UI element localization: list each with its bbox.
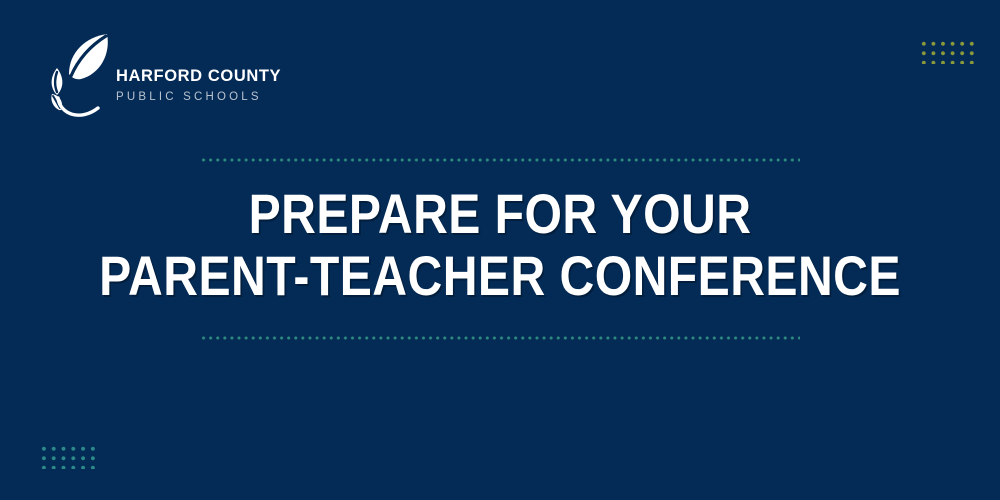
dotted-divider-top xyxy=(200,158,800,162)
dotted-divider-bottom xyxy=(200,336,800,340)
logo-lockup[interactable]: HARFORD COUNTY PUBLIC SCHOOLS xyxy=(38,30,278,120)
leaf-logo-icon xyxy=(38,30,118,118)
headline-line-1: PREPARE FOR YOUR xyxy=(70,186,930,242)
headline-block: PREPARE FOR YOUR PARENT-TEACHER CONFEREN… xyxy=(0,186,1000,304)
logo-org-name: HARFORD COUNTY xyxy=(116,68,276,85)
dot-grid-top-right xyxy=(919,39,977,64)
logo-org-subtitle: PUBLIC SCHOOLS xyxy=(116,92,276,104)
headline-line-2: PARENT-TEACHER CONFERENCE xyxy=(70,248,930,304)
announcement-banner: HARFORD COUNTY PUBLIC SCHOOLS PREPARE FO… xyxy=(0,0,1000,500)
logo-wordmark: HARFORD COUNTY PUBLIC SCHOOLS xyxy=(116,68,276,103)
dot-grid-bottom-left xyxy=(39,444,99,469)
